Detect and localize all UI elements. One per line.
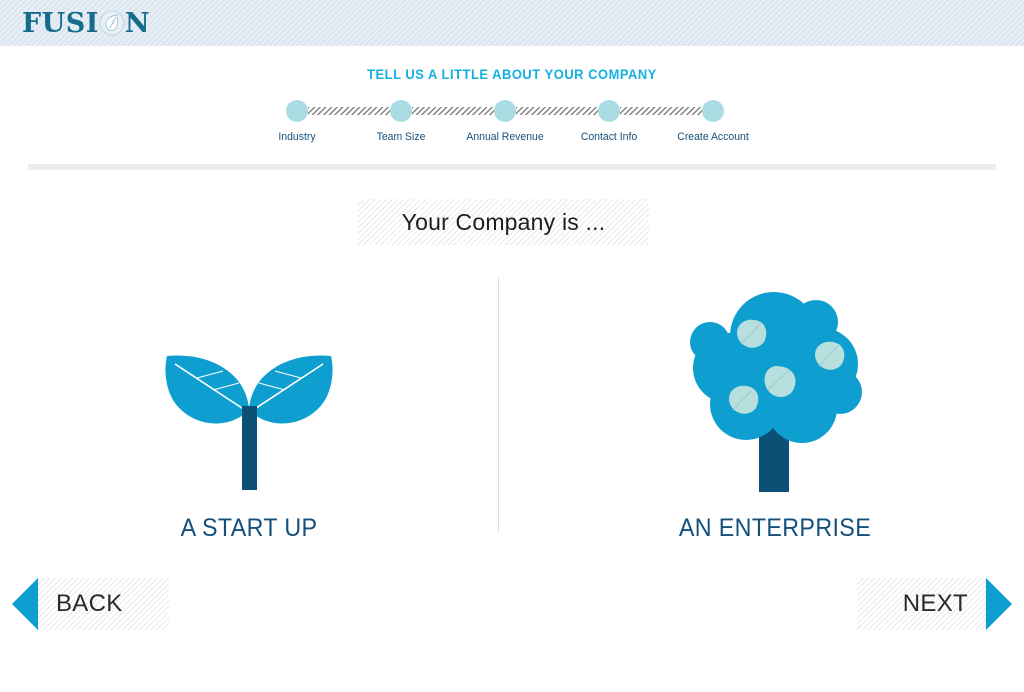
triangle-left-icon	[12, 578, 38, 630]
sprout-icon	[153, 340, 345, 500]
stepper-dot-annual-revenue[interactable]	[494, 100, 516, 122]
back-button[interactable]: BACK	[12, 578, 169, 630]
canopy-leaf-icon	[737, 320, 766, 348]
option-art-enterprise	[526, 270, 1024, 500]
stepper-label-create-account[interactable]: Create Account	[677, 131, 748, 143]
leaf-in-circle-icon	[99, 10, 125, 36]
next-button-plate: NEXT	[857, 578, 986, 630]
option-art-startup	[0, 270, 498, 500]
stepper-connector	[308, 107, 390, 115]
canopy-leaf-icon	[729, 386, 758, 414]
tree-icon	[684, 282, 866, 500]
canopy-leaf-icon	[815, 342, 844, 370]
stepper-label-annual-revenue[interactable]: Annual Revenue	[466, 131, 543, 143]
section-divider	[28, 164, 996, 170]
stepper-dot-team-size[interactable]	[390, 100, 412, 122]
option-divider	[498, 278, 499, 532]
stepper-label-industry[interactable]: Industry	[278, 131, 315, 143]
triangle-right-icon	[986, 578, 1012, 630]
stepper-label-contact-info[interactable]: Contact Info	[581, 131, 637, 143]
stepper-connector	[620, 107, 702, 115]
brand-logo-prefix: FUSI	[22, 10, 99, 37]
stepper-dot-contact-info[interactable]	[598, 100, 620, 122]
brand-logo[interactable]: FUSIN	[22, 7, 150, 39]
brand-logo-text: FUSIN	[22, 10, 150, 37]
option-label-startup: A START UP	[17, 514, 480, 543]
stepper-dot-industry[interactable]	[286, 100, 308, 122]
next-button[interactable]: NEXT	[857, 578, 1012, 630]
next-button-label: NEXT	[903, 590, 968, 618]
question-banner: Your Company is ...	[358, 199, 649, 245]
wizard-title: TELL US A LITTLE ABOUT YOUR COMPANY	[41, 66, 983, 82]
back-button-plate: BACK	[38, 578, 169, 630]
option-card-startup[interactable]: A START UP	[0, 270, 498, 560]
leaf-glyph-icon	[105, 14, 119, 32]
option-card-enterprise[interactable]: AN ENTERPRISE	[526, 270, 1024, 560]
stepper-track	[286, 100, 724, 122]
stepper-dot-create-account[interactable]	[702, 100, 724, 122]
back-button-label: BACK	[56, 590, 123, 618]
brand-logo-suffix: N	[125, 10, 150, 37]
app-header: FUSIN	[0, 0, 1024, 46]
stepper-connector	[412, 107, 494, 115]
option-group: A START UP	[0, 270, 1024, 560]
onboarding-page: FUSIN TELL US A LITTLE ABOUT YOUR COMPAN…	[0, 0, 1024, 692]
progress-stepper: Industry Team Size Annual Revenue Contac…	[286, 100, 724, 152]
stepper-label-team-size[interactable]: Team Size	[377, 131, 426, 143]
option-label-enterprise: AN ENTERPRISE	[543, 514, 1006, 543]
stepper-connector	[516, 107, 598, 115]
question-text: Your Company is ...	[402, 209, 606, 236]
